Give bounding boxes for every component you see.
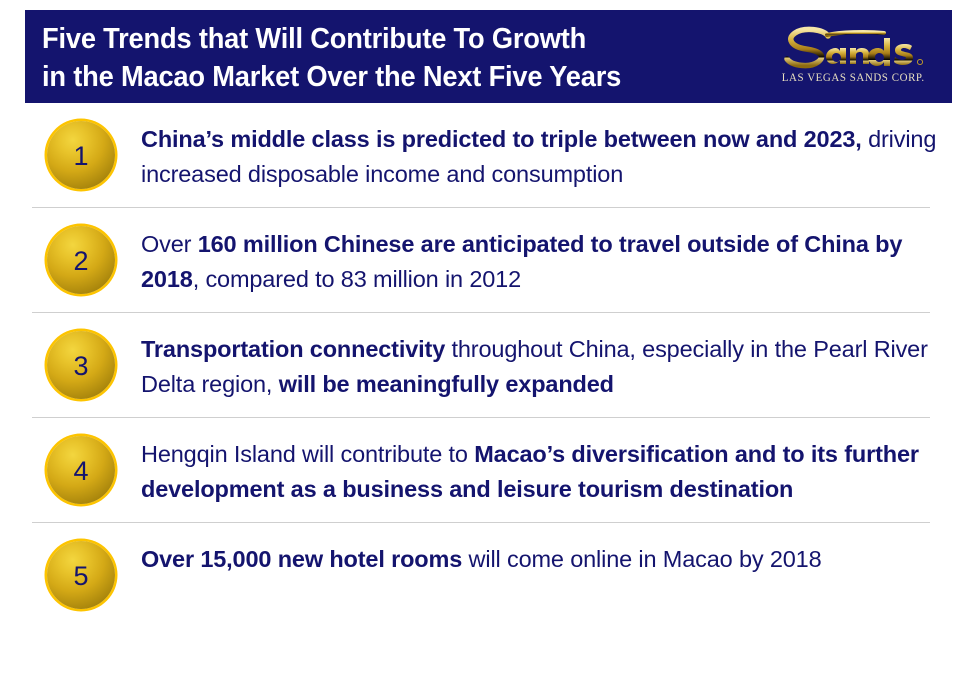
sands-wordmark-icon <box>780 26 926 70</box>
list-item: 3 Transportation connectivity throughout… <box>0 313 969 418</box>
sands-logo-subtitle: LAS VEGAS SANDS CORP. <box>781 72 924 84</box>
sands-logo: LAS VEGAS SANDS CORP. <box>778 26 942 88</box>
trend-number-label: 5 <box>73 563 88 590</box>
list-item: 4 Hengqin Island will contribute to Maca… <box>0 418 969 523</box>
trend-text: China’s middle class is predicted to tri… <box>141 119 939 192</box>
trend-number-label: 4 <box>73 458 88 485</box>
list-item: 5 Over 15,000 new hotel rooms will come … <box>0 523 969 625</box>
trend-number-badge: 5 <box>47 541 115 609</box>
trend-text: Over 160 million Chinese are anticipated… <box>141 224 939 297</box>
trend-text: Over 15,000 new hotel rooms will come on… <box>141 539 939 577</box>
header-banner: Five Trends that Will Contribute To Grow… <box>25 10 952 103</box>
page-title-line-1: Five Trends that Will Contribute To Grow… <box>42 20 621 58</box>
trend-text: Transportation connectivity throughout C… <box>141 329 939 402</box>
trend-number-badge: 4 <box>47 436 115 504</box>
trend-list: 1 China’s middle class is predicted to t… <box>0 103 969 625</box>
list-item: 2 Over 160 million Chinese are anticipat… <box>0 208 969 313</box>
trend-number-label: 2 <box>73 248 88 275</box>
trend-number-badge: 3 <box>47 331 115 399</box>
page-title-line-2: in the Macao Market Over the Next Five Y… <box>42 58 621 96</box>
list-item: 1 China’s middle class is predicted to t… <box>0 103 969 208</box>
trend-number-badge: 2 <box>47 226 115 294</box>
trend-text: Hengqin Island will contribute to Macao’… <box>141 434 939 507</box>
trend-number-label: 3 <box>73 353 88 380</box>
page-title: Five Trends that Will Contribute To Grow… <box>42 18 658 96</box>
trend-number-badge: 1 <box>47 121 115 189</box>
trend-number-label: 1 <box>73 143 88 170</box>
